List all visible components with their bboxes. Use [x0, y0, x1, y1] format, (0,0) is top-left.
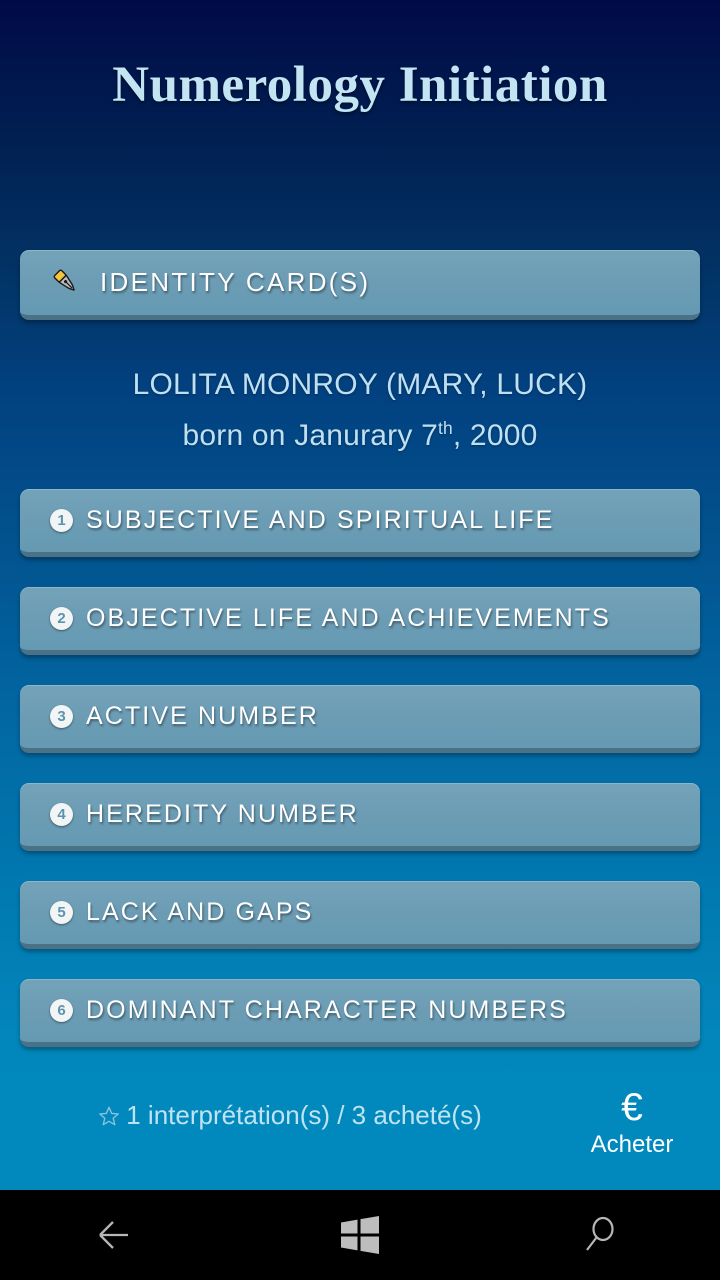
- section-number-badge: 1: [50, 509, 73, 532]
- section-button-dominant-character-numbers[interactable]: 6 DOMINANT CHARACTER NUMBERS: [20, 979, 700, 1047]
- section-button-heredity-number[interactable]: 4 HEREDITY NUMBER: [20, 783, 700, 851]
- buy-button-label: Acheter: [562, 1130, 702, 1160]
- pen-nib-icon: [50, 266, 84, 300]
- section-button-subjective-and-spiritual-life[interactable]: 1 SUBJECTIVE AND SPIRITUAL LIFE: [20, 489, 700, 557]
- section-button-objective-life-and-achievements[interactable]: 2 OBJECTIVE LIFE AND ACHIEVEMENTS: [20, 587, 700, 655]
- back-button[interactable]: [0, 1190, 240, 1280]
- section-label: LACK AND GAPS: [86, 898, 313, 927]
- star-outline-icon: [98, 1105, 120, 1127]
- section-label: SUBJECTIVE AND SPIRITUAL LIFE: [86, 506, 554, 535]
- section-label: ACTIVE NUMBER: [86, 702, 319, 731]
- section-label: HEREDITY NUMBER: [86, 800, 359, 829]
- back-arrow-icon: [92, 1215, 148, 1255]
- section-button-lack-and-gaps[interactable]: 5 LACK AND GAPS: [20, 881, 700, 949]
- birth-ordinal: th: [438, 418, 453, 438]
- section-number-badge: 4: [50, 803, 73, 826]
- page-content: Numerology Initiation IDENTITY CARD(S) L…: [0, 0, 720, 1190]
- footer-bar: 1 interprétation(s) / 3 acheté(s) € Ache…: [0, 1070, 720, 1190]
- person-birthdate: born on Janurary 7th, 2000: [0, 419, 720, 453]
- search-icon: [577, 1212, 623, 1258]
- section-number-badge: 2: [50, 607, 73, 630]
- section-number-badge: 5: [50, 901, 73, 924]
- section-number-badge: 3: [50, 705, 73, 728]
- section-label: OBJECTIVE LIFE AND ACHIEVEMENTS: [86, 604, 611, 633]
- section-button-active-number[interactable]: 3 ACTIVE NUMBER: [20, 685, 700, 753]
- euro-icon: €: [562, 1086, 702, 1130]
- buy-button[interactable]: € Acheter: [562, 1086, 702, 1160]
- app-window: Numerology Initiation IDENTITY CARD(S) L…: [0, 0, 720, 1280]
- identity-cards-button[interactable]: IDENTITY CARD(S): [20, 250, 700, 320]
- system-navigation-bar: [0, 1190, 720, 1280]
- identity-cards-label: IDENTITY CARD(S): [100, 267, 370, 298]
- birth-prefix: born on Janurary 7: [183, 419, 438, 452]
- section-label: DOMINANT CHARACTER NUMBERS: [86, 996, 568, 1025]
- birth-suffix: , 2000: [453, 419, 538, 452]
- section-number-badge: 6: [50, 999, 73, 1022]
- interpretations-status-text: 1 interprétation(s) / 3 acheté(s): [126, 1100, 482, 1130]
- search-button[interactable]: [480, 1190, 720, 1280]
- interpretations-status: 1 interprétation(s) / 3 acheté(s): [0, 1100, 580, 1131]
- windows-logo-icon: [337, 1214, 383, 1256]
- person-name: LOLITA MONROY (MARY, LUCK): [0, 368, 720, 402]
- start-button[interactable]: [240, 1190, 480, 1280]
- page-title: Numerology Initiation: [0, 56, 720, 114]
